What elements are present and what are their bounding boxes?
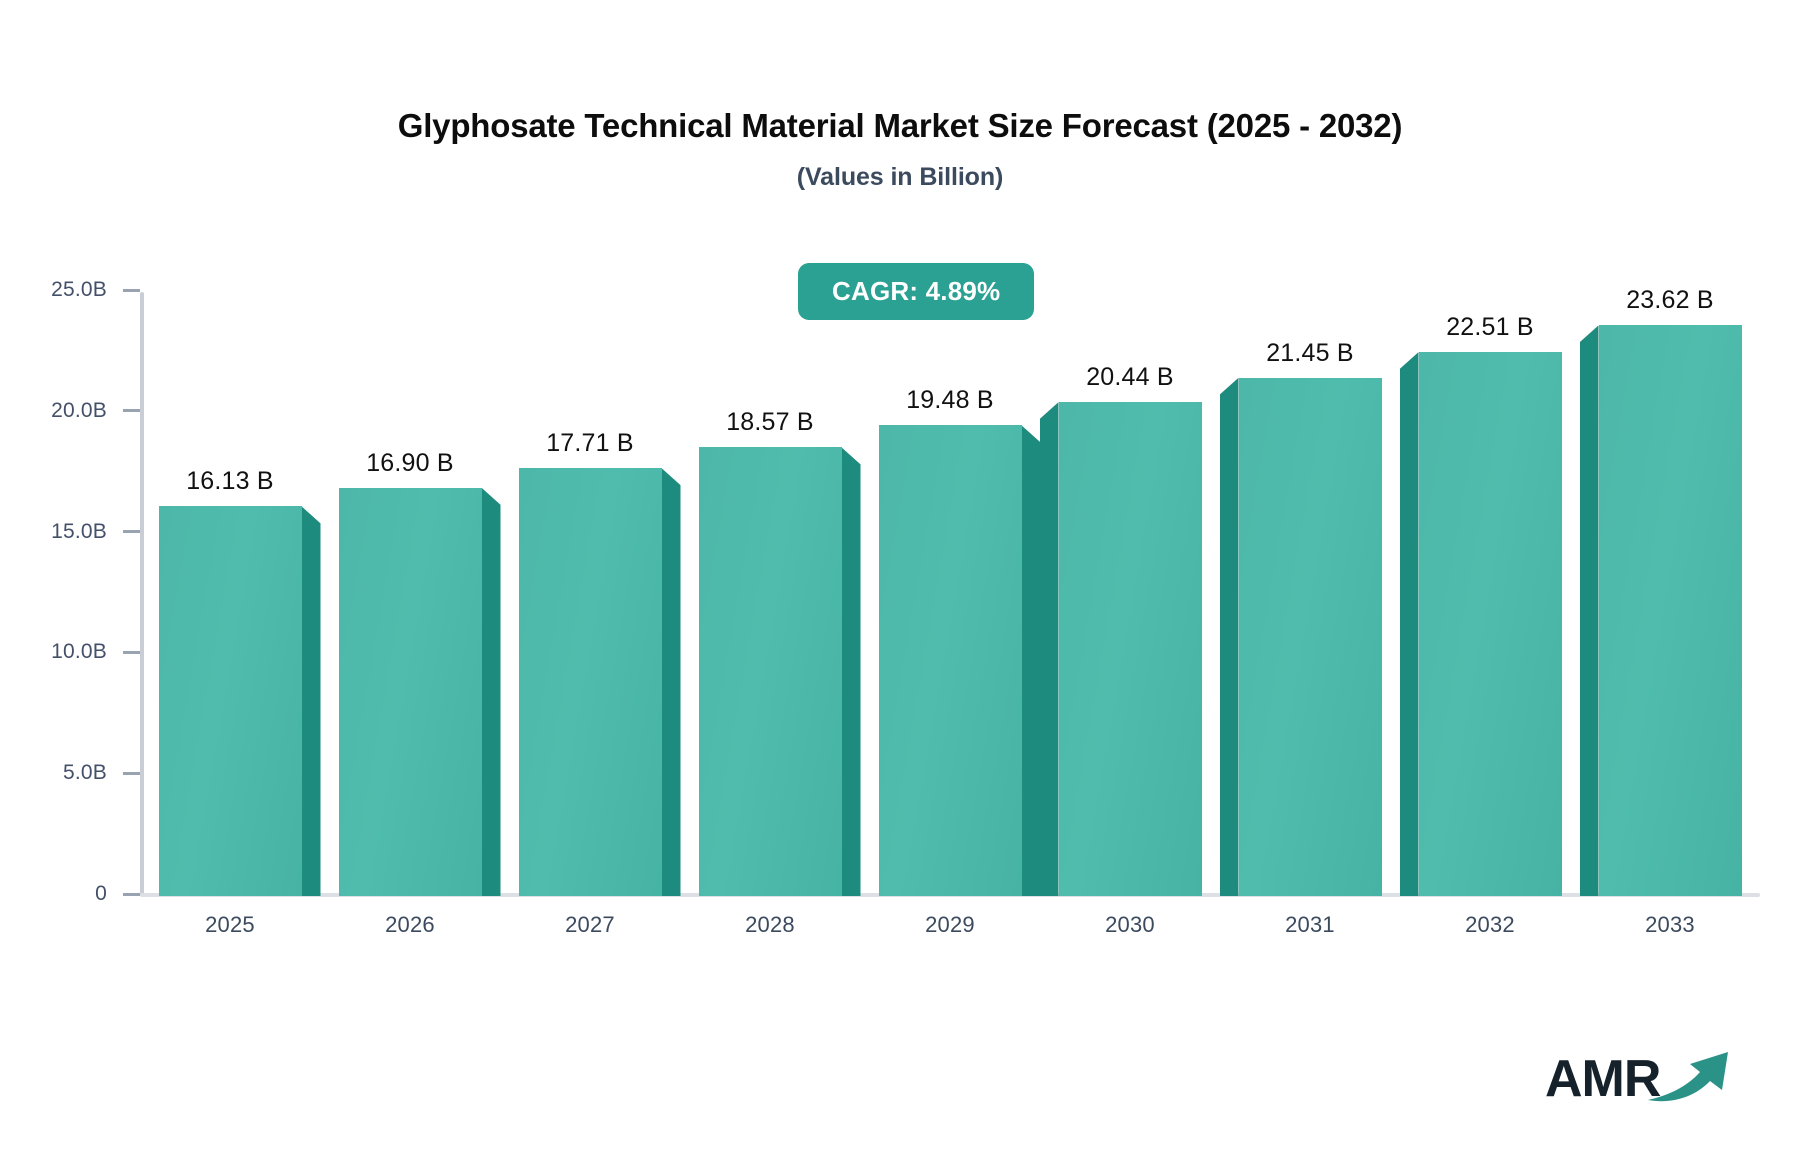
y-axis-tick-mark — [123, 772, 140, 775]
y-axis-tick-label: 20.0B — [51, 399, 107, 423]
y-axis-tick-mark — [123, 893, 140, 896]
bar-value-label: 17.71 B — [546, 429, 634, 458]
bar-side-face — [482, 488, 501, 896]
bar-3d-body — [879, 425, 1022, 896]
bar-column[interactable]: 20.44 B — [1059, 402, 1202, 896]
growth-arrow-icon — [1646, 1046, 1732, 1111]
amr-logo-text: AMR — [1545, 1053, 1660, 1105]
y-axis-tick: 0 — [95, 882, 140, 906]
bar-column[interactable]: 22.51 B — [1419, 352, 1562, 896]
x-axis-label: 2031 — [1239, 912, 1382, 938]
page-title: Glyphosate Technical Material Market Siz… — [0, 108, 1800, 144]
x-axis-label: 2032 — [1419, 912, 1562, 938]
y-axis-tick-label: 25.0B — [51, 278, 107, 302]
bar-front-face — [519, 468, 662, 896]
bar-value-label: 16.90 B — [366, 449, 454, 478]
y-axis-tick: 20.0B — [51, 399, 140, 423]
bar-front-face — [699, 447, 842, 896]
bar-front-face — [1599, 325, 1742, 896]
x-axis-label: 2028 — [699, 912, 842, 938]
bar-3d-body — [159, 506, 302, 896]
x-axis-label: 2030 — [1059, 912, 1202, 938]
bar-side-face — [1022, 425, 1041, 896]
bar-3d-body — [519, 468, 662, 896]
y-axis-tick-mark — [123, 651, 140, 654]
bar-side-face — [1220, 378, 1239, 896]
bar-front-face — [1239, 378, 1382, 896]
bar-side-face — [1580, 325, 1599, 896]
chart-subtitle: (Values in Billion) — [0, 163, 1800, 192]
bar-value-label: 23.62 B — [1626, 286, 1714, 315]
x-axis-label: 2029 — [879, 912, 1022, 938]
bar-value-label: 18.57 B — [726, 408, 814, 437]
y-axis-tick-mark — [123, 530, 140, 533]
bar-series: 16.13 B16.90 B17.71 B18.57 B19.48 B20.44… — [140, 292, 1760, 896]
x-axis-label: 2027 — [519, 912, 662, 938]
bar-side-face — [1400, 352, 1419, 896]
y-axis-tick: 15.0B — [51, 520, 140, 544]
y-axis-tick-label: 0 — [95, 882, 107, 906]
bar-value-label: 22.51 B — [1446, 313, 1534, 342]
bar-column[interactable]: 23.62 B — [1599, 325, 1742, 896]
bar-3d-body — [1059, 402, 1202, 896]
bar-column[interactable]: 18.57 B — [699, 447, 842, 896]
bar-side-face — [842, 447, 861, 896]
bar-3d-body — [1599, 325, 1742, 896]
x-axis-label: 2026 — [339, 912, 482, 938]
bar-value-label: 20.44 B — [1086, 363, 1174, 392]
y-axis-tick: 5.0B — [63, 761, 140, 785]
bar-side-face — [662, 468, 681, 896]
y-axis-tick-mark — [123, 289, 140, 292]
y-axis-tick-label: 5.0B — [63, 761, 107, 785]
bar-column[interactable]: 19.48 B — [879, 425, 1022, 896]
bar-column[interactable]: 16.13 B — [159, 506, 302, 896]
x-axis-label: 2033 — [1599, 912, 1742, 938]
bar-value-label: 19.48 B — [906, 386, 994, 415]
bar-value-label: 16.13 B — [186, 467, 274, 496]
y-axis-tick: 10.0B — [51, 640, 140, 664]
amr-logo: AMR — [1545, 1040, 1746, 1105]
bar-front-face — [1059, 402, 1202, 896]
bar-side-face — [1040, 402, 1059, 896]
x-axis-label: 2025 — [159, 912, 302, 938]
bar-3d-body — [339, 488, 482, 896]
bar-front-face — [1419, 352, 1562, 896]
bar-3d-body — [1239, 378, 1382, 896]
bar-front-face — [339, 488, 482, 896]
bar-3d-body — [699, 447, 842, 896]
bar-3d-body — [1419, 352, 1562, 896]
bar-value-label: 21.45 B — [1266, 339, 1354, 368]
bar-column[interactable]: 17.71 B — [519, 468, 662, 896]
y-axis-tick: 25.0B — [51, 278, 140, 302]
y-axis-tick-label: 10.0B — [51, 640, 107, 664]
y-axis-tick-label: 15.0B — [51, 520, 107, 544]
bar-front-face — [159, 506, 302, 896]
x-axis-labels: 202520262027202820292030203120322033 — [140, 912, 1760, 952]
bar-column[interactable]: 16.90 B — [339, 488, 482, 896]
y-axis-tick-mark — [123, 409, 140, 412]
bar-front-face — [879, 425, 1022, 896]
bar-side-face — [302, 506, 321, 896]
chart-header: Glyphosate Technical Material Market Siz… — [0, 0, 1800, 192]
bar-column[interactable]: 21.45 B — [1239, 378, 1382, 896]
